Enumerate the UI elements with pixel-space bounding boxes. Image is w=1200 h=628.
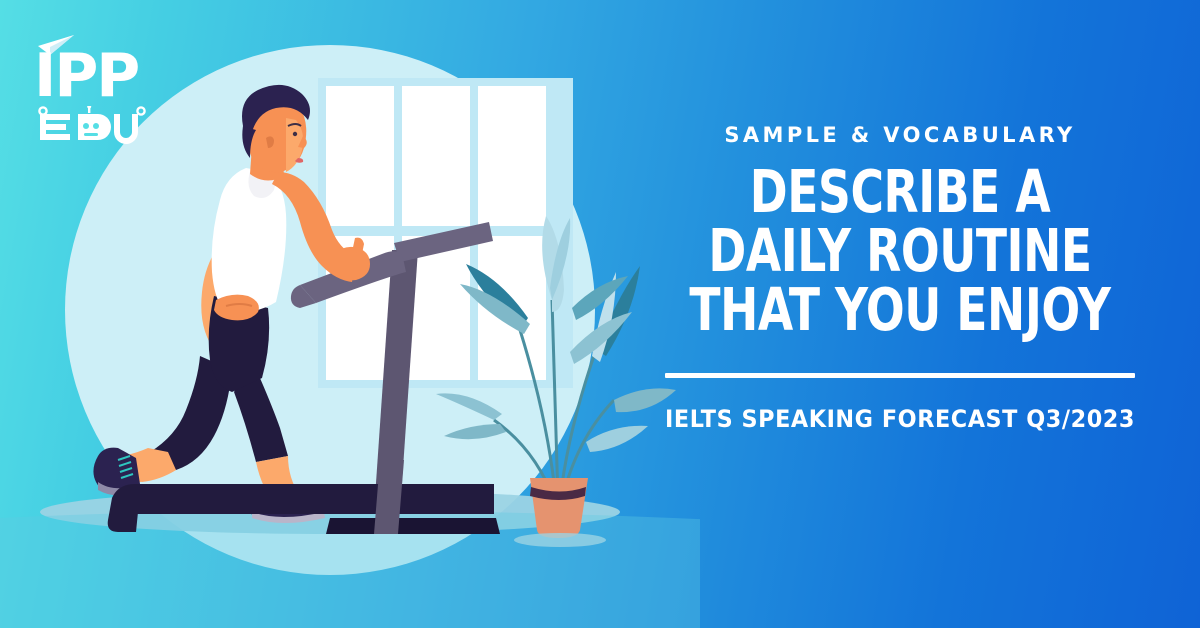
banner-canvas: IPP SAMPLE & VOCABULARY DESCRIBE A DAILY… <box>0 0 1200 628</box>
headline-line-2: DAILY ROUTINE <box>676 221 1123 280</box>
plant-leaf <box>586 426 648 452</box>
page-title: DESCRIBE A DAILY ROUTINE THAT YOU ENJOY <box>676 162 1123 339</box>
runner-hand-hip <box>214 295 259 321</box>
divider <box>665 373 1135 378</box>
robot-face-icon <box>38 106 150 146</box>
banner-text-block: SAMPLE & VOCABULARY DESCRIBE A DAILY ROU… <box>640 120 1160 434</box>
subtitle-label: IELTS SPEAKING FORECAST Q3/2023 <box>658 404 1142 434</box>
treadmill-base-pad <box>326 518 500 534</box>
plant-pot <box>530 478 588 538</box>
logo-wordmark-ipp: IPP <box>34 46 138 106</box>
kicker-label: SAMPLE & VOCABULARY <box>640 120 1160 150</box>
headline-line-1: DESCRIBE A <box>676 162 1123 221</box>
headline-line-3: THAT YOU ENJOY <box>676 280 1123 339</box>
logo[interactable]: IPP <box>32 28 162 136</box>
